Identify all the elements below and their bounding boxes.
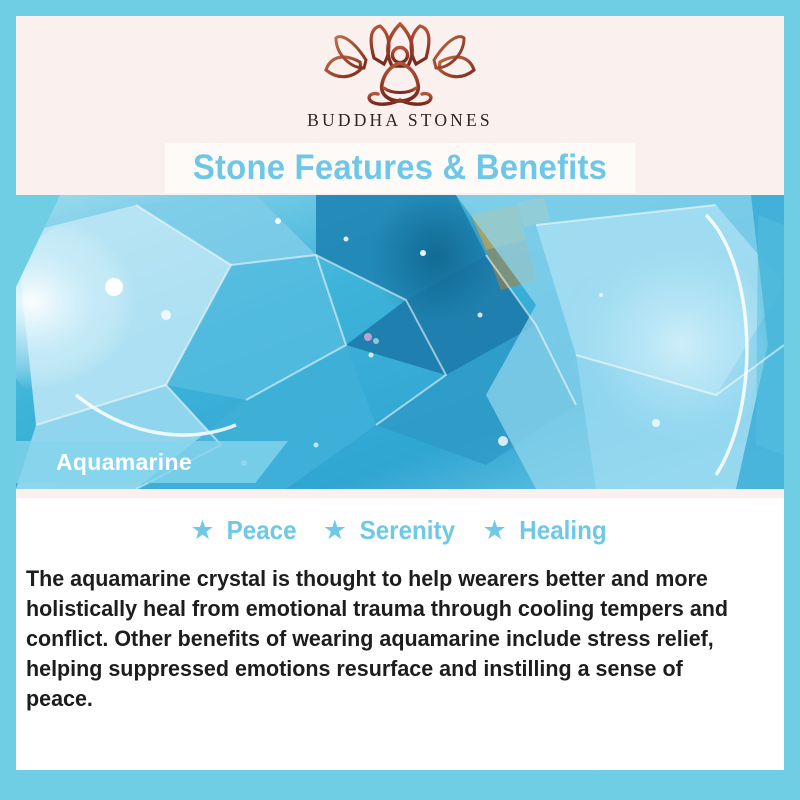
crystal-photo: Aquamarine xyxy=(16,195,784,489)
keyword-item-healing: ★ Healing xyxy=(483,515,610,546)
brand-name: BUDDHA STONES xyxy=(307,110,493,131)
bottom-accent-bar xyxy=(0,770,800,800)
stone-name-badge: Aquamarine xyxy=(16,441,288,483)
title-box: Stone Features & Benefits xyxy=(165,143,635,193)
keyword-label: Peace xyxy=(226,515,296,546)
content-area: ★ Peace ★ Serenity ★ Healing The aquamar… xyxy=(16,489,784,770)
keyword-item-peace: ★ Peace xyxy=(190,515,298,546)
content-top-strip xyxy=(16,489,784,498)
keyword-label: Healing xyxy=(519,515,606,546)
title-band: Stone Features & Benefits xyxy=(16,141,784,195)
star-icon: ★ xyxy=(483,517,507,544)
keyword-item-serenity: ★ Serenity xyxy=(323,515,459,546)
star-icon: ★ xyxy=(190,517,214,544)
brand-header: BUDDHA STONES xyxy=(16,16,784,141)
keyword-label: Serenity xyxy=(360,515,455,546)
keyword-list: ★ Peace ★ Serenity ★ Healing xyxy=(16,515,784,546)
stone-name: Aquamarine xyxy=(56,449,192,476)
page-title: Stone Features & Benefits xyxy=(179,143,621,193)
inner-panel: BUDDHA STONES Stone Features & Benefits xyxy=(16,16,784,770)
infographic-page: BUDDHA STONES Stone Features & Benefits xyxy=(0,0,800,800)
description-text: The aquamarine crystal is thought to hel… xyxy=(26,564,740,714)
star-icon: ★ xyxy=(323,517,347,544)
brand-logo: BUDDHA STONES xyxy=(16,22,784,131)
lotus-meditation-icon xyxy=(314,22,486,108)
